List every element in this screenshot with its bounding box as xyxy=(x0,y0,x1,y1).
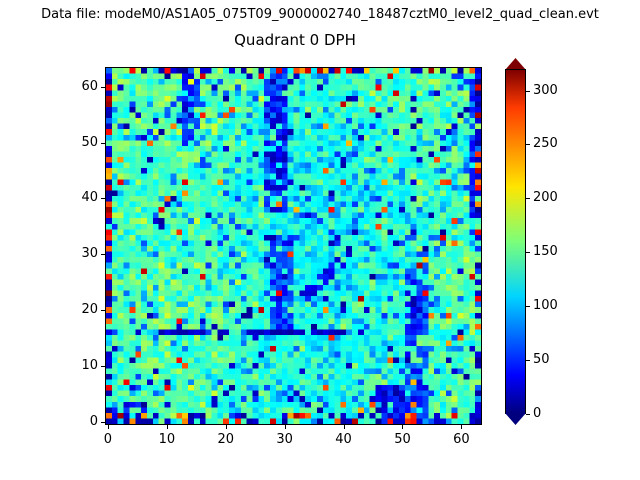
x-tick-label: 60 xyxy=(441,432,481,447)
colorbar-tick-label: 250 xyxy=(533,136,558,152)
y-tick xyxy=(101,254,105,255)
y-tick xyxy=(101,422,105,423)
colorbar-gradient xyxy=(505,69,526,414)
y-tick-label: 10 xyxy=(58,358,98,374)
colorbar-tick xyxy=(526,144,530,145)
x-tick xyxy=(402,425,403,429)
colorbar-tick xyxy=(526,360,530,361)
x-tick-label: 30 xyxy=(265,432,305,447)
x-tick xyxy=(344,425,345,429)
colorbar-tick xyxy=(526,306,530,307)
colorbar-tick-label: 150 xyxy=(533,244,558,260)
colorbar-tick xyxy=(526,198,530,199)
colorbar-tick-label: 50 xyxy=(533,352,550,368)
y-tick xyxy=(101,87,105,88)
heatmap-axes[interactable] xyxy=(105,67,482,425)
x-tick-label: 50 xyxy=(382,432,422,447)
colorbar-tick-label: 300 xyxy=(533,83,558,99)
heatmap-image xyxy=(106,68,481,424)
colorbar-tick xyxy=(526,252,530,253)
colorbar-tick-label: 200 xyxy=(533,190,558,206)
colorbar-tick xyxy=(526,91,530,92)
x-tick-label: 20 xyxy=(206,432,246,447)
x-tick-label: 0 xyxy=(88,432,128,447)
y-tick-label: 0 xyxy=(58,414,98,430)
colorbar-tick-label: 100 xyxy=(533,298,558,314)
x-tick xyxy=(285,425,286,429)
y-tick xyxy=(101,310,105,311)
y-tick-label: 20 xyxy=(58,302,98,318)
y-tick xyxy=(101,198,105,199)
colorbar-tick xyxy=(526,414,530,415)
data-file-label: Data file: modeM0/AS1A05_075T09_90000027… xyxy=(0,7,640,22)
y-tick xyxy=(101,143,105,144)
y-tick-label: 40 xyxy=(58,190,98,206)
x-tick xyxy=(108,425,109,429)
x-tick xyxy=(461,425,462,429)
x-tick-label: 40 xyxy=(324,432,364,447)
page-title: Quadrant 0 DPH xyxy=(0,31,590,49)
colorbar[interactable] xyxy=(505,58,526,425)
x-tick-label: 10 xyxy=(147,432,187,447)
y-tick xyxy=(101,366,105,367)
x-tick xyxy=(167,425,168,429)
figure-canvas: Data file: modeM0/AS1A05_075T09_90000027… xyxy=(0,0,640,480)
y-tick-label: 30 xyxy=(58,246,98,262)
y-tick-label: 50 xyxy=(58,135,98,151)
x-tick xyxy=(226,425,227,429)
y-tick-label: 60 xyxy=(58,79,98,95)
colorbar-extend-bottom-arrow xyxy=(505,413,526,425)
colorbar-tick-label: 0 xyxy=(533,406,541,422)
